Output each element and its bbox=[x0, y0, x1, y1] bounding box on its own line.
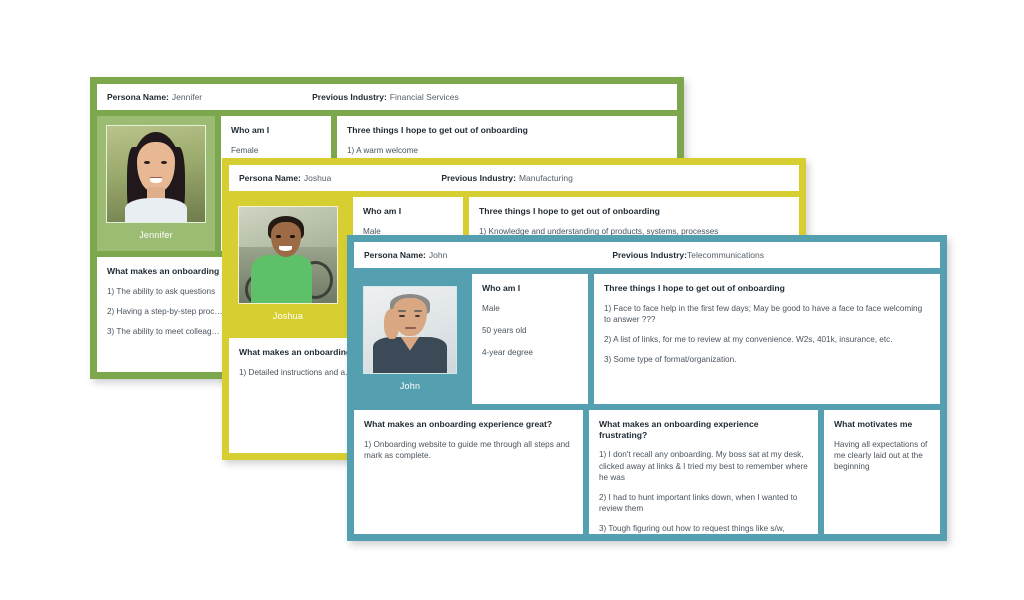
card-inner: Persona Name: John Previous Industry: Te… bbox=[347, 235, 947, 541]
three-things-line: 1) Face to face help in the first few da… bbox=[604, 303, 930, 325]
who-am-i-line: Male bbox=[482, 303, 578, 314]
previous-industry-value: Telecommunications bbox=[687, 250, 764, 260]
previous-industry-label: Previous Industry: bbox=[312, 92, 387, 102]
persona-photo bbox=[106, 125, 206, 223]
onboarding-great-panel: What makes an onboarding experience grea… bbox=[354, 410, 583, 534]
card-bottom-band: What makes an onboarding experience grea… bbox=[354, 410, 940, 534]
photo-caption: Jennifer bbox=[139, 230, 173, 240]
persona-name-value: Jennifer bbox=[172, 92, 202, 102]
photo-tile: Jennifer bbox=[97, 116, 215, 251]
persona-name-label: Persona Name: bbox=[107, 92, 169, 102]
photo-caption: Joshua bbox=[273, 311, 303, 321]
photo-tile: John bbox=[354, 274, 466, 404]
previous-industry-label: Previous Industry: bbox=[612, 250, 687, 260]
frustrating-line: 1) I don't recall any onboarding. My bos… bbox=[599, 449, 808, 482]
persona-name-value: John bbox=[429, 250, 447, 260]
panel-title: Who am I bbox=[482, 283, 578, 294]
panel-title: What makes an onboarding experience grea… bbox=[364, 419, 573, 430]
persona-name-value: Joshua bbox=[304, 173, 331, 183]
great-line: 1) Onboarding website to guide me throug… bbox=[364, 439, 573, 461]
previous-industry-label: Previous Industry: bbox=[441, 173, 516, 183]
previous-industry-field: Previous Industry: Financial Services bbox=[312, 92, 459, 102]
card-header: Persona Name: Jennifer Previous Industry… bbox=[97, 84, 677, 110]
persona-name-field: Persona Name: John bbox=[364, 250, 447, 260]
card-middle-band: John Who am I Male 50 years old 4-year d… bbox=[354, 274, 940, 404]
previous-industry-value: Manufacturing bbox=[519, 173, 573, 183]
three-things-line: 2) A list of links, for me to review at … bbox=[604, 334, 930, 345]
who-am-i-line: 4-year degree bbox=[482, 347, 578, 358]
panel-title: Three things I hope to get out of onboar… bbox=[604, 283, 930, 294]
frustrating-line: 3) Tough figuring out how to request thi… bbox=[599, 523, 808, 534]
persona-name-field: Persona Name: Jennifer bbox=[107, 92, 202, 102]
who-am-i-line: 50 years old bbox=[482, 325, 578, 336]
panel-title: Three things I hope to get out of onboar… bbox=[347, 125, 667, 136]
card-header: Persona Name: Joshua Previous Industry: … bbox=[229, 165, 799, 191]
previous-industry-value: Financial Services bbox=[390, 92, 459, 102]
three-things-line: 3) Some type of format/organization. bbox=[604, 354, 930, 365]
who-am-i-line: Female bbox=[231, 145, 321, 156]
panel-title: Who am I bbox=[363, 206, 453, 217]
persona-name-label: Persona Name: bbox=[239, 173, 301, 183]
motivates-panel: What motivates me Having all expectation… bbox=[824, 410, 940, 534]
motivates-line: Having all expectations of me clearly la… bbox=[834, 439, 930, 472]
portrait-joshua-illustration bbox=[239, 207, 337, 303]
three-things-panel: Three things I hope to get out of onboar… bbox=[594, 274, 940, 404]
panel-title: What makes an onboarding experience frus… bbox=[599, 419, 808, 440]
panel-title: Who am I bbox=[231, 125, 321, 136]
three-things-line: 1) A warm welcome bbox=[347, 145, 667, 156]
card-header: Persona Name: John Previous Industry: Te… bbox=[354, 242, 940, 268]
previous-industry-field: Previous Industry: Manufacturing bbox=[441, 173, 573, 183]
portrait-jennifer-illustration bbox=[107, 126, 205, 222]
persona-name-label: Persona Name: bbox=[364, 250, 426, 260]
who-am-i-panel: Who am I Male 50 years old 4-year degree bbox=[472, 274, 588, 404]
panel-title: What motivates me bbox=[834, 419, 930, 430]
persona-photo bbox=[238, 206, 338, 304]
photo-caption: John bbox=[400, 381, 420, 391]
persona-board: Persona Name: Jennifer Previous Industry… bbox=[0, 0, 1024, 600]
persona-name-field: Persona Name: Joshua bbox=[239, 173, 331, 183]
panel-title: Three things I hope to get out of onboar… bbox=[479, 206, 789, 217]
previous-industry-field: Previous Industry: Telecommunications bbox=[612, 250, 764, 260]
portrait-john-illustration bbox=[364, 287, 456, 373]
persona-photo bbox=[363, 286, 457, 374]
persona-card-john[interactable]: Persona Name: John Previous Industry: Te… bbox=[347, 235, 947, 541]
photo-tile: Joshua bbox=[229, 197, 347, 332]
frustrating-line: 2) I had to hunt important links down, w… bbox=[599, 492, 808, 514]
onboarding-frustrating-panel: What makes an onboarding experience frus… bbox=[589, 410, 818, 534]
